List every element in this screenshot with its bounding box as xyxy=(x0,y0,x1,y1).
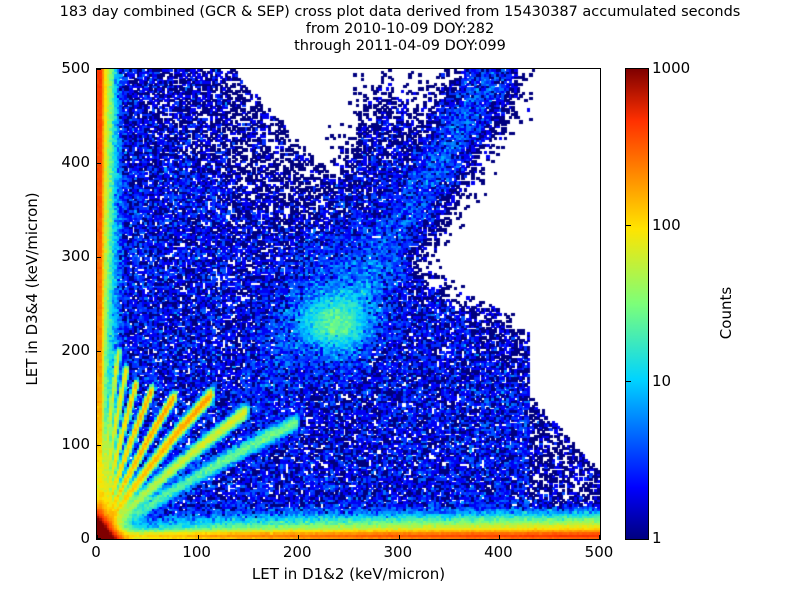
density-heatmap xyxy=(97,69,600,539)
title-line-3: through 2011-04-09 DOY:099 xyxy=(0,38,800,55)
y-axis-label: LET in D3&4 (keV/micron) xyxy=(23,139,41,439)
y-tick-label-0: 0 xyxy=(80,529,90,547)
x-tick-200 xyxy=(298,535,299,539)
x-tick-label-300: 300 xyxy=(383,543,412,561)
x-tick-label-100: 100 xyxy=(182,543,211,561)
y-tick-100 xyxy=(97,445,101,446)
y-tick-label-200: 200 xyxy=(61,341,90,359)
colorbar-tick-label-10: 10 xyxy=(652,372,671,390)
y-tick-label-300: 300 xyxy=(61,247,90,265)
title-line-2: from 2010-10-09 DOY:282 xyxy=(0,21,800,38)
colorbar-tick-label-1: 1 xyxy=(652,529,662,547)
colorbar-tick-label-1000: 1000 xyxy=(652,59,690,77)
y-tick-label-100: 100 xyxy=(61,435,90,453)
x-tick-100 xyxy=(198,535,199,539)
colorbar-label: Counts xyxy=(717,223,735,403)
title-line-1: 183 day combined (GCR & SEP) cross plot … xyxy=(0,4,800,21)
figure-canvas: 183 day combined (GCR & SEP) cross plot … xyxy=(0,0,800,600)
y-tick-300 xyxy=(97,257,101,258)
x-tick-400 xyxy=(499,535,500,539)
x-tick-label-200: 200 xyxy=(283,543,312,561)
x-tick-300 xyxy=(399,535,400,539)
x-tick-label-400: 400 xyxy=(484,543,513,561)
colorbar-gradient xyxy=(626,69,648,539)
y-tick-400 xyxy=(97,163,101,164)
colorbar xyxy=(625,68,649,540)
y-tick-500 xyxy=(97,69,101,70)
x-axis-label: LET in D1&2 (keV/micron) xyxy=(96,565,601,583)
colorbar-tick-100 xyxy=(625,225,631,226)
colorbar-tick-label-100: 100 xyxy=(652,216,681,234)
x-tick-label-500: 500 xyxy=(585,543,614,561)
x-tick-label-0: 0 xyxy=(91,543,101,561)
x-tick-500 xyxy=(599,535,600,539)
y-tick-label-500: 500 xyxy=(61,59,90,77)
figure-title: 183 day combined (GCR & SEP) cross plot … xyxy=(0,4,800,55)
y-tick-0 xyxy=(97,538,101,539)
y-tick-label-400: 400 xyxy=(61,153,90,171)
plot-area xyxy=(96,68,601,540)
colorbar-tick-10 xyxy=(625,381,631,382)
y-tick-200 xyxy=(97,351,101,352)
